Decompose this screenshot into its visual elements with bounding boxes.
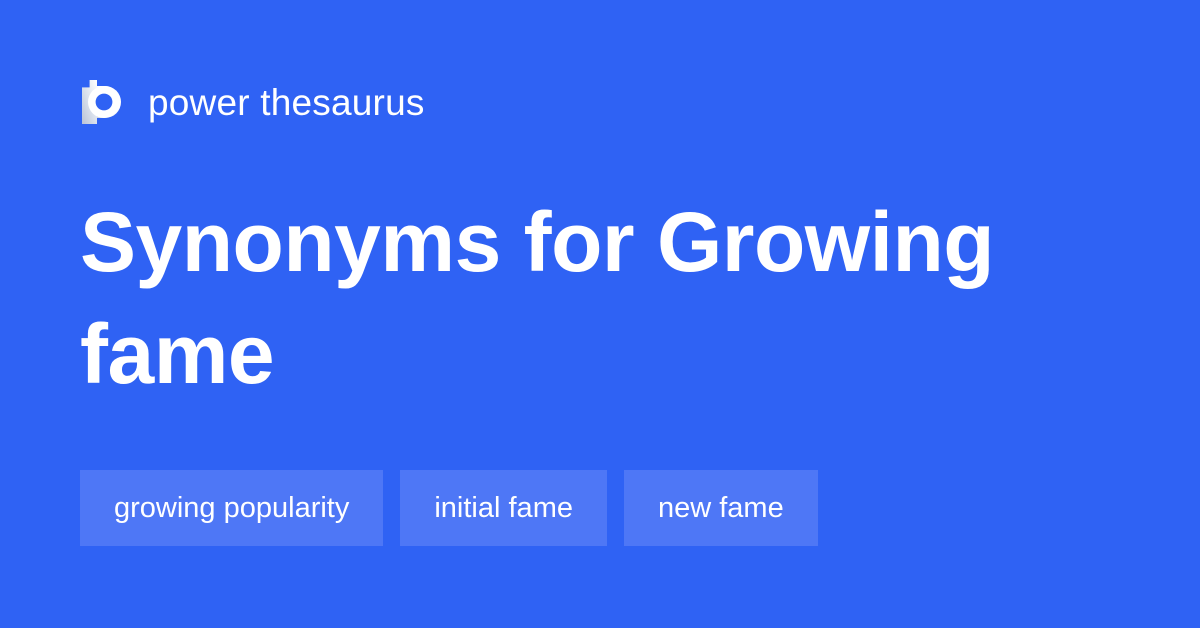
synonym-chip-label: new fame	[658, 494, 784, 523]
brand-header[interactable]: power thesaurus	[80, 74, 425, 130]
synonym-chip[interactable]: initial fame	[400, 470, 607, 546]
synonym-chip-label: growing popularity	[114, 494, 349, 523]
share-card: power thesaurus Synonyms for Growing fam…	[0, 0, 1200, 628]
power-thesaurus-b-logo-icon	[80, 79, 126, 125]
synonym-chip-label: initial fame	[434, 494, 573, 523]
synonym-chip-list: growing popularity initial fame new fame	[80, 470, 818, 546]
page-title: Synonyms for Growing fame	[80, 186, 1080, 410]
brand-name: power thesaurus	[148, 84, 425, 121]
synonym-chip[interactable]: new fame	[624, 470, 818, 546]
synonym-chip[interactable]: growing popularity	[80, 470, 383, 546]
